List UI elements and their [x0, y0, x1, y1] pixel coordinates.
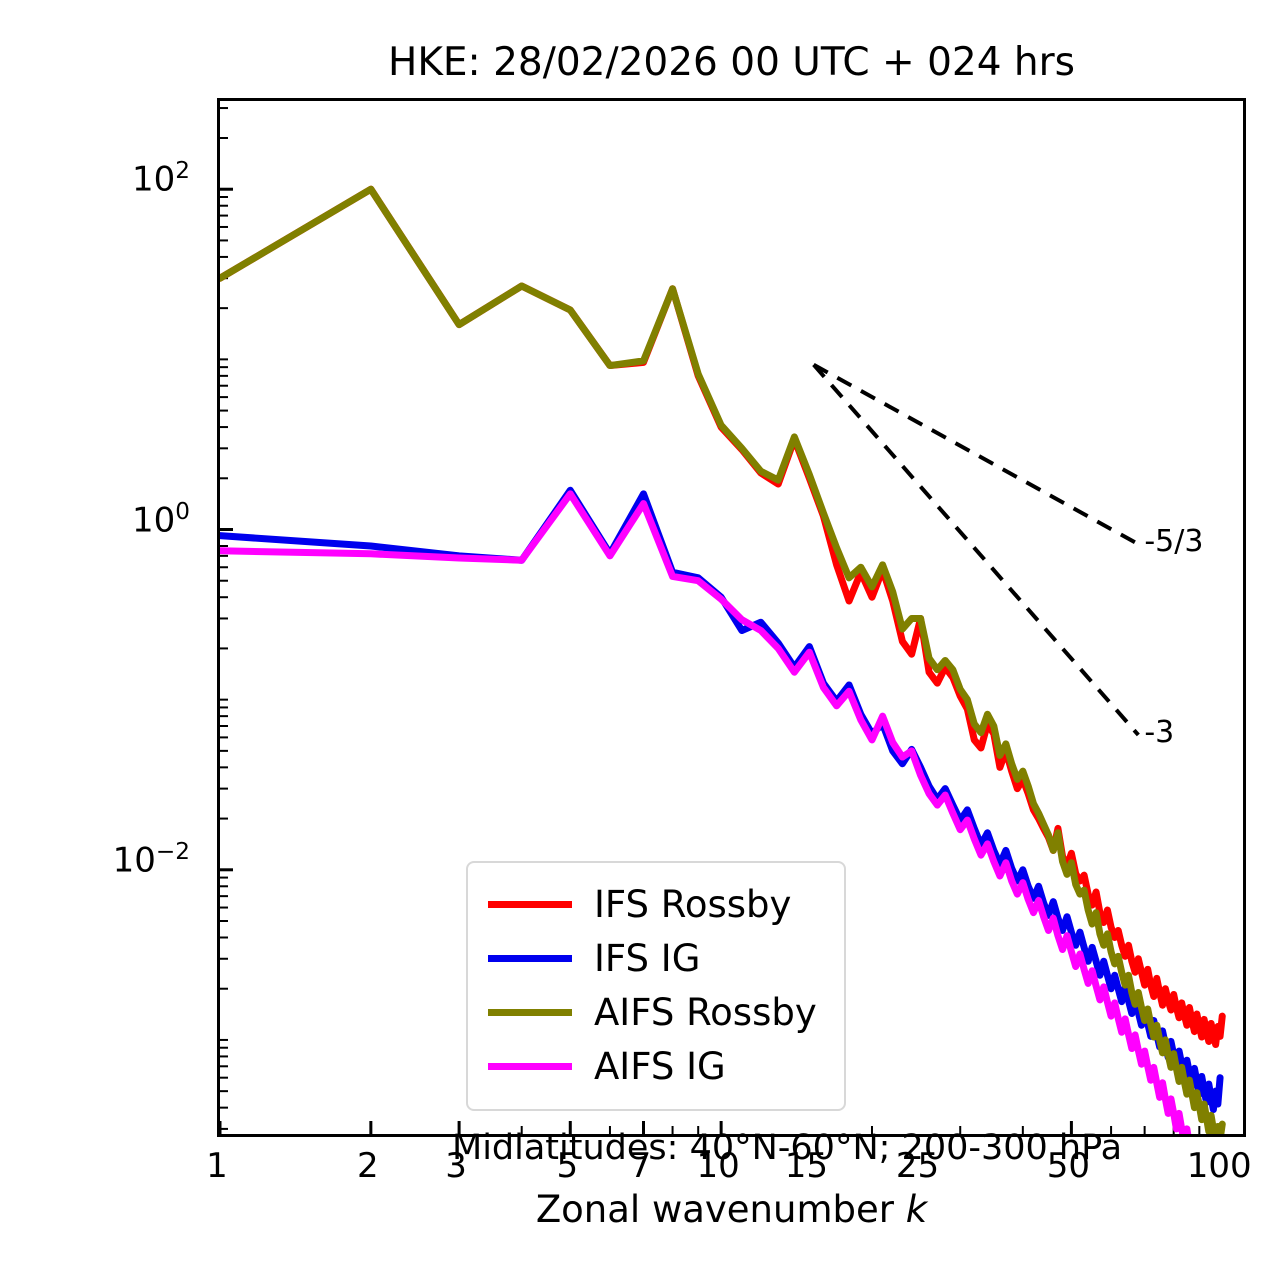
slope-label-five-thirds: -5/3	[1144, 524, 1203, 559]
x-axis-label-symbol: k	[906, 1188, 927, 1231]
figure-root: HKE: 28/02/2026 00 UTC + 024 hrs Horizon…	[0, 0, 1280, 1288]
legend-color-swatch	[488, 955, 572, 962]
x-axis-label: Zonal wavenumber k	[217, 1188, 1246, 1231]
x-tick-label: 1	[206, 1146, 228, 1186]
y-tick-label: 10−2	[113, 841, 190, 877]
page-title: HKE: 28/02/2026 00 UTC + 024 hrs	[217, 40, 1246, 85]
x-axis-label-text: Zonal wavenumber	[536, 1188, 906, 1231]
legend-label: AIFS Rossby	[594, 991, 817, 1034]
chart-legend: IFS RossbyIFS IGAIFS RossbyAIFS IG	[466, 861, 846, 1111]
legend-item[interactable]: AIFS IG	[488, 1039, 824, 1093]
legend-color-swatch	[488, 1063, 572, 1070]
region-annotation: Midlatitudes: 40°N-60°N; 200-300 hPa	[452, 1128, 1122, 1168]
reference-slope-lines	[814, 365, 1139, 735]
plot-area: -5/3 -3 IFS RossbyIFS IGAIFS RossbyAIFS …	[217, 98, 1246, 1137]
y-tick-label: 100	[132, 501, 190, 537]
x-tick-label: 2	[357, 1146, 379, 1186]
legend-item[interactable]: AIFS Rossby	[488, 985, 824, 1039]
legend-label: IFS IG	[594, 937, 700, 980]
x-tick-label: 100	[1187, 1146, 1252, 1186]
legend-item[interactable]: IFS IG	[488, 931, 824, 985]
slope-label-minus-three: -3	[1144, 715, 1174, 750]
legend-item[interactable]: IFS Rossby	[488, 877, 824, 931]
legend-color-swatch	[488, 901, 572, 908]
legend-color-swatch	[488, 1009, 572, 1016]
legend-label: IFS Rossby	[594, 883, 791, 926]
legend-label: AIFS IG	[594, 1045, 726, 1088]
y-tick-label: 102	[132, 160, 190, 196]
